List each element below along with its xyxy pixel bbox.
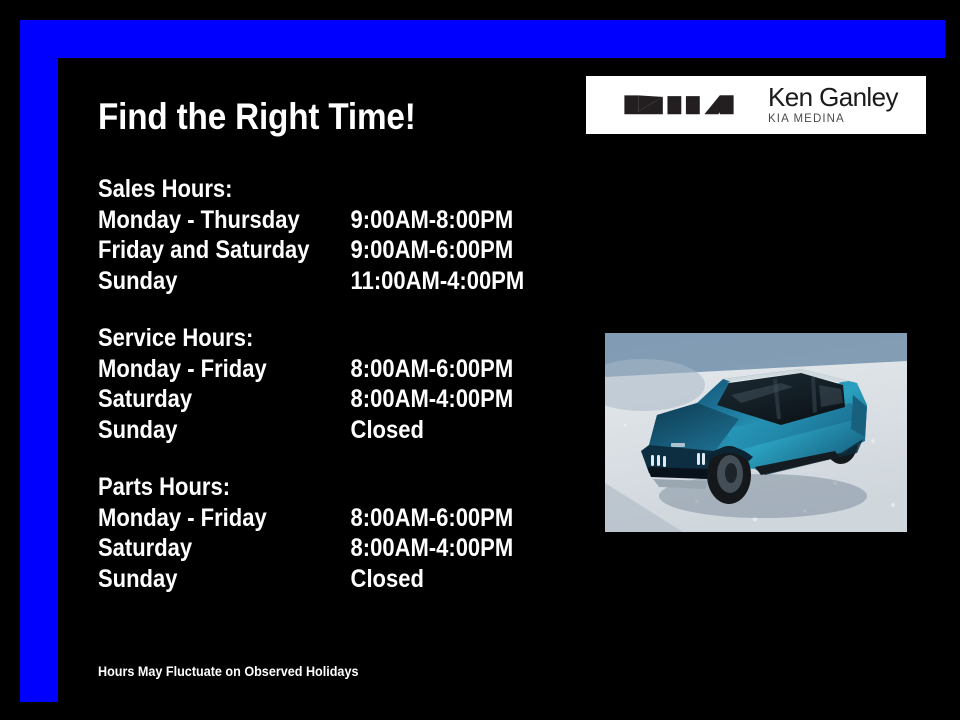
hours-row: Sunday Closed xyxy=(98,564,520,595)
page-title: Find the Right Time! xyxy=(98,96,416,138)
hours-row: Monday - Thursday 9:00AM-8:00PM xyxy=(98,205,520,236)
slide-canvas: Find the Right Time! Sales Hours: Monday… xyxy=(0,0,960,720)
hours-row: Monday - Friday 8:00AM-6:00PM xyxy=(98,503,520,534)
hours-row-day: Friday and Saturday xyxy=(98,235,310,266)
hours-row-time: 9:00AM-6:00PM xyxy=(351,235,514,266)
hours-row-day: Sunday xyxy=(98,266,177,297)
hours-row-time: 9:00AM-8:00PM xyxy=(351,205,514,236)
hours-row-day: Monday - Friday xyxy=(98,503,267,534)
hours-row-time: 8:00AM-6:00PM xyxy=(351,503,514,534)
hours-row: Sunday 11:00AM-4:00PM xyxy=(98,266,520,297)
dealer-name-block: Ken Ganley KIA MEDINA xyxy=(768,84,898,126)
hours-list: Sales Hours: Monday - Thursday 9:00AM-8:… xyxy=(98,174,578,594)
hours-section-parts: Parts Hours: Monday - Friday 8:00AM-6:00… xyxy=(98,472,578,594)
hours-row-day: Saturday xyxy=(98,533,192,564)
hours-row: Friday and Saturday 9:00AM-6:00PM xyxy=(98,235,520,266)
hours-row-time: 11:00AM-4:00PM xyxy=(351,266,525,297)
hours-row: Monday - Friday 8:00AM-6:00PM xyxy=(98,354,520,385)
hours-row-day: Monday - Thursday xyxy=(98,205,300,236)
hours-row-day: Saturday xyxy=(98,384,192,415)
hours-row: Saturday 8:00AM-4:00PM xyxy=(98,533,520,564)
dealer-logo-plate: Ken Ganley KIA MEDINA xyxy=(586,76,926,134)
hours-row-time: 8:00AM-4:00PM xyxy=(351,384,514,415)
hours-row-time: Closed xyxy=(351,415,424,446)
hours-section-sales: Sales Hours: Monday - Thursday 9:00AM-8:… xyxy=(98,174,578,296)
hours-row: Saturday 8:00AM-4:00PM xyxy=(98,384,520,415)
hours-row-day: Sunday xyxy=(98,415,177,446)
hours-row-day: Sunday xyxy=(98,564,177,595)
hours-row-time: 8:00AM-6:00PM xyxy=(351,354,514,385)
hours-row-time: Closed xyxy=(351,564,424,595)
section-heading: Service Hours: xyxy=(98,323,520,354)
kia-logo-icon xyxy=(620,90,738,120)
blue-border-frame: Find the Right Time! Sales Hours: Monday… xyxy=(20,20,945,702)
dealer-name: Ken Ganley xyxy=(768,84,898,111)
hours-section-service: Service Hours: Monday - Friday 8:00AM-6:… xyxy=(98,323,578,445)
section-heading: Parts Hours: xyxy=(98,472,520,503)
kia-ev9-suv-photo xyxy=(605,333,907,532)
hours-row: Sunday Closed xyxy=(98,415,520,446)
hours-row-time: 8:00AM-4:00PM xyxy=(351,533,514,564)
holiday-disclaimer: Hours May Fluctuate on Observed Holidays xyxy=(98,663,358,679)
hours-row-day: Monday - Friday xyxy=(98,354,267,385)
section-heading: Sales Hours: xyxy=(98,174,520,205)
dealer-subtitle: KIA MEDINA xyxy=(768,112,898,126)
slide-content-area: Find the Right Time! Sales Hours: Monday… xyxy=(58,58,947,704)
